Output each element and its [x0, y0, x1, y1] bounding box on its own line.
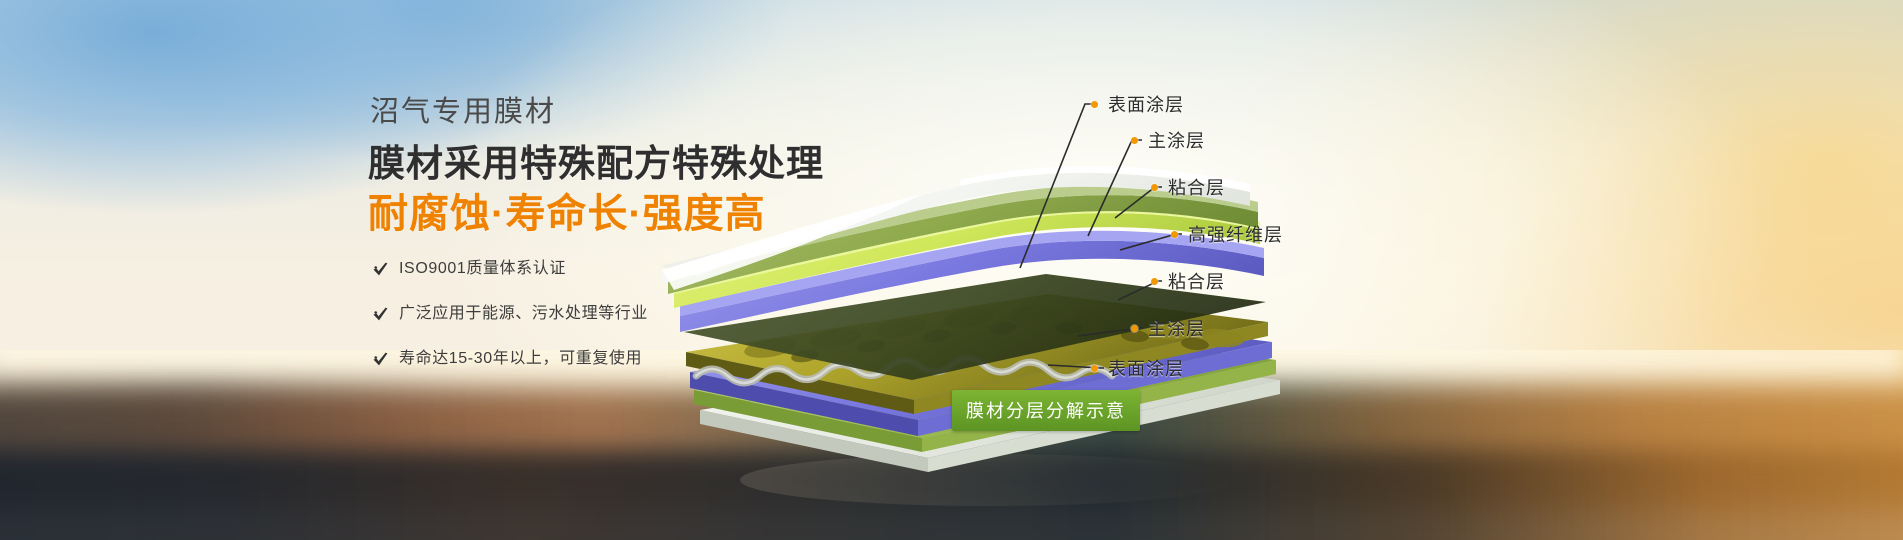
list-item-label: ISO9001质量体系认证 — [399, 261, 566, 277]
marker-dot — [1091, 365, 1098, 372]
list-item: ISO9001质量体系认证 — [372, 252, 702, 285]
layer-label: 主涂层 — [1148, 132, 1205, 150]
layer-label: 表面涂层 — [1108, 96, 1184, 114]
status-badge: 膜材分层分解示意 — [952, 390, 1140, 431]
marker-dot — [1131, 137, 1138, 144]
layer-label: 主涂层 — [1148, 320, 1205, 338]
marker-dot — [1091, 101, 1098, 108]
layer-label: 表面涂层 — [1108, 360, 1184, 378]
promo-banner: 沼气专用膜材 膜材采用特殊配方特殊处理 耐腐蚀·寿命长·强度高 ISO9001质… — [0, 0, 1903, 540]
marker-dot — [1151, 184, 1158, 191]
marker-dot — [1171, 231, 1178, 238]
marker-dot — [1151, 278, 1158, 285]
list-item: 广泛应用于能源、污水处理等行业 — [372, 297, 702, 330]
check-icon — [372, 261, 389, 278]
list-item-label: 寿命达15-30年以上，可重复使用 — [399, 351, 642, 367]
layer-label: 粘合层 — [1168, 273, 1225, 291]
marker-dot — [1131, 325, 1138, 332]
layer-label: 粘合层 — [1168, 179, 1225, 197]
layer-label: 高强纤维层 — [1188, 226, 1283, 244]
feature-list: ISO9001质量体系认证 广泛应用于能源、污水处理等行业 寿命达15-30年以… — [372, 252, 702, 387]
list-item: 寿命达15-30年以上，可重复使用 — [372, 342, 702, 375]
check-icon — [372, 306, 389, 323]
check-icon — [372, 351, 389, 368]
list-item-label: 广泛应用于能源、污水处理等行业 — [399, 306, 648, 322]
